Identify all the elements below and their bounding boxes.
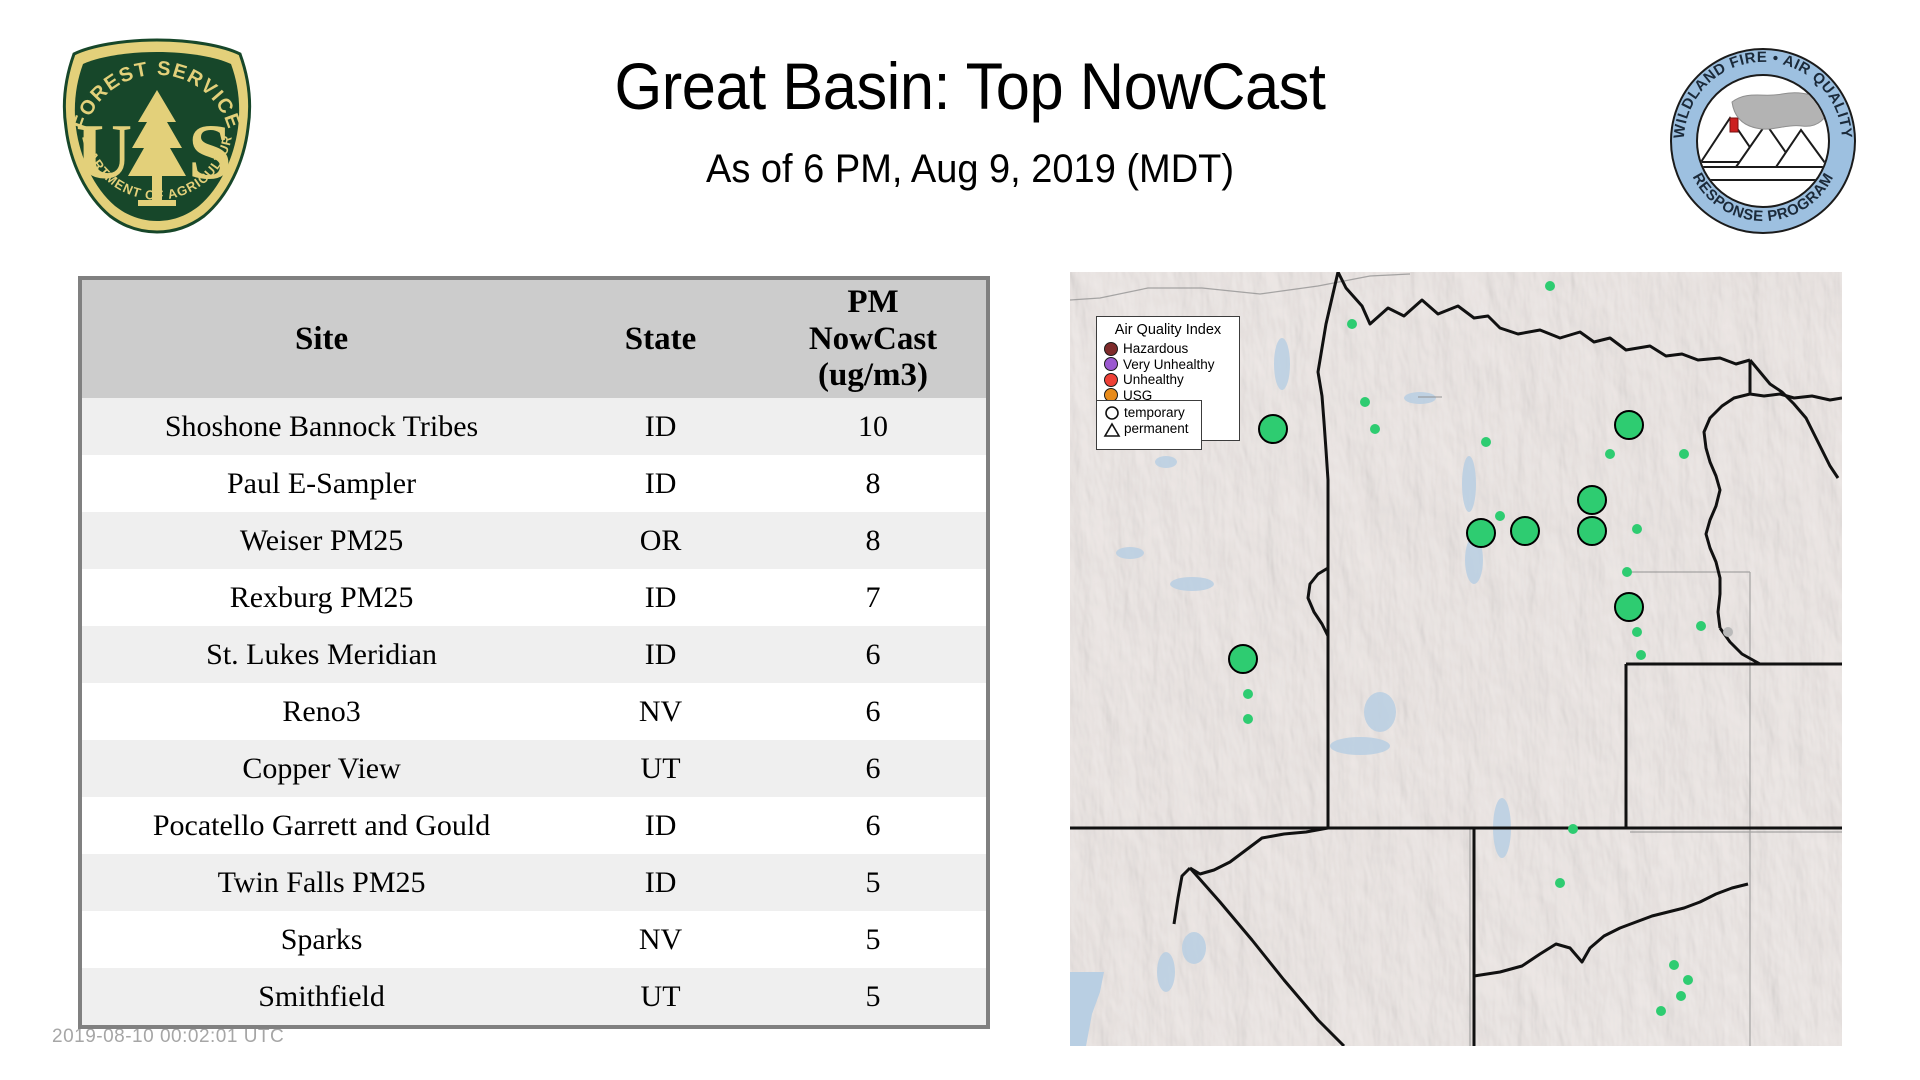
aqi-legend-item: Very Unhealthy <box>1104 357 1232 373</box>
aqi-legend-item: Unhealthy <box>1104 372 1232 388</box>
monitor-dot[interactable] <box>1656 1006 1666 1016</box>
table-body: Shoshone Bannock TribesID10Paul E-Sample… <box>82 398 986 1025</box>
value-cell: 6 <box>760 740 986 797</box>
aqi-legend-label: Unhealthy <box>1123 373 1184 387</box>
state-cell: ID <box>561 626 760 683</box>
flame-icon <box>1730 118 1738 132</box>
site-cell: Sparks <box>82 911 561 968</box>
site-cell: Twin Falls PM25 <box>82 854 561 911</box>
aqi-swatch-icon <box>1104 357 1118 371</box>
timestamp-stamp: 2019-08-10 00:02:01 UTC <box>52 1026 284 1048</box>
state-cell: ID <box>561 398 760 455</box>
state-cell: ID <box>561 797 760 854</box>
temporary-circle-icon <box>1106 407 1118 419</box>
site-cell: Pocatello Garrett and Gould <box>82 797 561 854</box>
state-cell: UT <box>561 740 760 797</box>
monitor-dot[interactable] <box>1577 516 1607 546</box>
monitor-dot[interactable] <box>1683 975 1693 985</box>
monitor-dot[interactable] <box>1622 567 1632 577</box>
state-cell: UT <box>561 968 760 1025</box>
monitor-dot[interactable] <box>1723 627 1733 637</box>
monitor-type-labels: temporary permanent <box>1124 405 1189 437</box>
site-cell: Smithfield <box>82 968 561 1025</box>
usfs-forest-service-logo: FOREST SERVICE U S DEPARTMENT OF AGRICUL… <box>52 36 262 236</box>
state-cell: ID <box>561 455 760 512</box>
aqi-legend-label: Hazardous <box>1123 342 1188 356</box>
table-header-row: Site State PM NowCast (ug/m3) <box>82 280 986 398</box>
value-cell: 5 <box>760 911 986 968</box>
site-cell: Shoshone Bannock Tribes <box>82 398 561 455</box>
value-cell: 10 <box>760 398 986 455</box>
table-row[interactable]: Pocatello Garrett and GouldID6 <box>82 797 986 854</box>
monitor-dot[interactable] <box>1495 511 1505 521</box>
site-cell: Reno3 <box>82 683 561 740</box>
table-row[interactable]: Twin Falls PM25ID5 <box>82 854 986 911</box>
monitor-dot[interactable] <box>1481 437 1491 447</box>
monitor-dot[interactable] <box>1632 524 1642 534</box>
table-row[interactable]: Weiser PM25OR8 <box>82 512 986 569</box>
monitor-dot[interactable] <box>1614 592 1644 622</box>
monitor-dot[interactable] <box>1466 518 1496 548</box>
site-cell: Paul E-Sampler <box>82 455 561 512</box>
table-row[interactable]: St. Lukes MeridianID6 <box>82 626 986 683</box>
state-cell: NV <box>561 911 760 968</box>
monitor-dot[interactable] <box>1605 449 1615 459</box>
monitor-dot[interactable] <box>1696 621 1706 631</box>
temporary-label: temporary <box>1124 405 1189 421</box>
monitor-dot[interactable] <box>1360 397 1370 407</box>
monitor-dot[interactable] <box>1347 319 1357 329</box>
value-cell: 6 <box>760 797 986 854</box>
table-row[interactable]: Copper ViewUT6 <box>82 740 986 797</box>
monitor-dot[interactable] <box>1243 689 1253 699</box>
permanent-triangle-icon <box>1105 424 1119 436</box>
table-row[interactable]: SparksNV5 <box>82 911 986 968</box>
state-cell: NV <box>561 683 760 740</box>
monitor-dot[interactable] <box>1636 650 1646 660</box>
table-row[interactable]: Shoshone Bannock TribesID10 <box>82 398 986 455</box>
aqi-swatch-icon <box>1104 342 1118 356</box>
title-block: Great Basin: Top NowCast As of 6 PM, Aug… <box>300 52 1640 192</box>
monitor-dot[interactable] <box>1568 824 1578 834</box>
wildland-fire-air-quality-logo: WILDLAND FIRE • AIR QUALITY RESPONSE PRO… <box>1668 46 1858 236</box>
monitor-type-shapes <box>1103 405 1121 444</box>
value-cell: 8 <box>760 455 986 512</box>
state-cell: OR <box>561 512 760 569</box>
monitor-dot[interactable] <box>1258 414 1288 444</box>
column-header-line1: PM <box>847 284 898 320</box>
monitor-dot[interactable] <box>1370 424 1380 434</box>
permanent-label: permanent <box>1124 421 1189 437</box>
state-cell: ID <box>561 854 760 911</box>
monitor-dot[interactable] <box>1545 281 1555 291</box>
page-title: Great Basin: Top NowCast <box>347 52 1593 121</box>
value-cell: 7 <box>760 569 986 626</box>
column-header-line3: (ug/m3) <box>818 357 928 393</box>
monitor-dot[interactable] <box>1510 516 1540 546</box>
monitor-dot[interactable] <box>1614 410 1644 440</box>
monitor-dot[interactable] <box>1679 449 1689 459</box>
aqi-legend-item: Hazardous <box>1104 341 1232 357</box>
value-cell: 5 <box>760 854 986 911</box>
aqi-swatch-icon <box>1104 373 1118 387</box>
table-row[interactable]: Paul E-SamplerID8 <box>82 455 986 512</box>
value-cell: 8 <box>760 512 986 569</box>
monitor-dot[interactable] <box>1243 714 1253 724</box>
monitor-dot[interactable] <box>1632 627 1642 637</box>
column-header-state[interactable]: State <box>561 280 760 398</box>
table-row[interactable]: Rexburg PM25ID7 <box>82 569 986 626</box>
aqi-legend-label: Very Unhealthy <box>1123 358 1215 372</box>
state-cell: ID <box>561 569 760 626</box>
nowcast-table-container: Site State PM NowCast (ug/m3) Shoshone B… <box>78 276 990 1029</box>
air-quality-map[interactable]: Air Quality Index HazardousVery Unhealth… <box>1070 272 1842 1046</box>
monitor-dot[interactable] <box>1228 644 1258 674</box>
site-cell: Copper View <box>82 740 561 797</box>
value-cell: 5 <box>760 968 986 1025</box>
nowcast-table: Site State PM NowCast (ug/m3) Shoshone B… <box>82 280 986 1025</box>
table-row[interactable]: SmithfieldUT5 <box>82 968 986 1025</box>
monitor-type-legend: temporary permanent <box>1096 400 1202 450</box>
value-cell: 6 <box>760 626 986 683</box>
aqi-legend-title: Air Quality Index <box>1104 322 1232 338</box>
column-header-line2: NowCast <box>809 321 937 357</box>
page-subtitle: As of 6 PM, Aug 9, 2019 (MDT) <box>334 147 1607 192</box>
site-cell: Rexburg PM25 <box>82 569 561 626</box>
monitor-dot[interactable] <box>1669 960 1679 970</box>
value-cell: 6 <box>760 683 986 740</box>
site-cell: St. Lukes Meridian <box>82 626 561 683</box>
table-row[interactable]: Reno3NV6 <box>82 683 986 740</box>
monitor-dot[interactable] <box>1577 485 1607 515</box>
monitor-dot[interactable] <box>1555 878 1565 888</box>
site-cell: Weiser PM25 <box>82 512 561 569</box>
column-header-pm-nowcast[interactable]: PM NowCast (ug/m3) <box>760 280 986 398</box>
column-header-site[interactable]: Site <box>82 280 561 398</box>
monitor-dot[interactable] <box>1676 991 1686 1001</box>
